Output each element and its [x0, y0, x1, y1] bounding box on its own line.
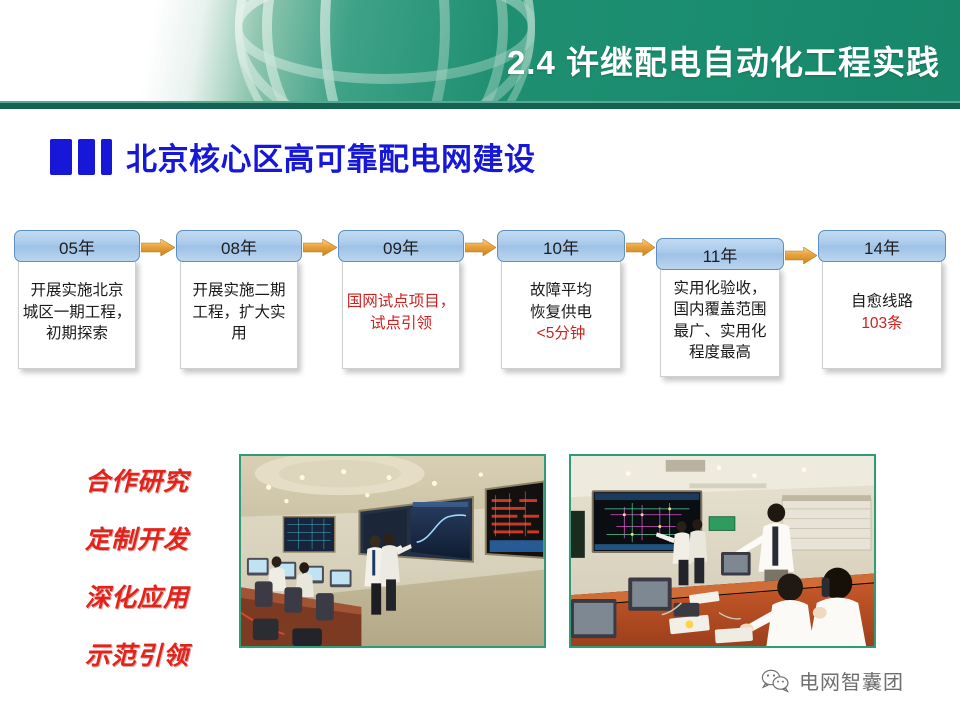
timeline-arrow-icon [785, 247, 817, 264]
timeline-item-text-line: 故障平均 [530, 280, 592, 301]
timeline-item-text-line: 开展实施北京 [30, 280, 123, 301]
watermark: 电网智囊团 [760, 666, 904, 695]
timeline-item-text-line: 国内覆盖范围 [673, 299, 766, 320]
timeline-item-text-line: 工程，扩大实 [192, 302, 285, 323]
header-banner: 2.4 许继配电自动化工程实践 [0, 0, 960, 104]
timeline-arrow-icon [465, 239, 496, 256]
timeline-year-pill[interactable]: 08年 [176, 230, 302, 262]
timeline-year-pill[interactable]: 05年 [14, 230, 140, 262]
timeline-item-text-line: 实用化验收， [673, 278, 766, 299]
timeline-year-label: 14年 [864, 234, 900, 259]
slogan-line: 合作研究 [62, 462, 212, 498]
header-rule [0, 103, 960, 109]
timeline-arrow-icon [626, 239, 655, 256]
page-title: 2.4 许继配电自动化工程实践 [507, 36, 940, 84]
timeline-year-pill[interactable]: 10年 [497, 230, 625, 262]
timeline-item-text-line: 初期探索 [46, 323, 108, 344]
timeline-year-pill[interactable]: 11年 [656, 238, 784, 270]
timeline-item-text-line: 103条 [861, 313, 902, 334]
timeline-arrow-icon [141, 239, 175, 256]
timeline-item-text-line: 用 [231, 323, 247, 344]
timeline-year-label: 10年 [543, 234, 579, 259]
timeline-item-text-line: 自愈线路 [851, 291, 913, 312]
heading-marker-bar-3 [101, 139, 112, 175]
timeline-item-text-line: 开展实施二期 [192, 280, 285, 301]
section-heading: 北京核心区高可靠配电网建设 [50, 134, 536, 179]
timeline-item-text-line: 国网试点项目， [347, 291, 456, 312]
timeline-year-label: 11年 [703, 242, 738, 267]
timeline-year-label: 08年 [221, 234, 257, 259]
timeline: 05年开展实施北京城区一期工程，初期探索08年开展实施二期工程，扩大实用09年国… [0, 230, 960, 390]
timeline-item: 11年实用化验收，国内覆盖范围最广、实用化程度最高 [656, 238, 784, 377]
timeline-item-body: 自愈线路103条 [822, 259, 942, 369]
timeline-item-body: 国网试点项目，试点引领 [342, 259, 460, 369]
slogan-line: 定制开发 [62, 520, 212, 556]
timeline-item-text-line: 城区一期工程， [23, 302, 132, 323]
timeline-item: 05年开展实施北京城区一期工程，初期探索 [14, 230, 140, 369]
timeline-year-pill[interactable]: 14年 [818, 230, 946, 262]
watermark-label: 电网智囊团 [799, 666, 904, 695]
timeline-item-body: 实用化验收，国内覆盖范围最广、实用化程度最高 [660, 267, 780, 377]
slogan-line: 深化应用 [62, 578, 212, 614]
section-heading-label: 北京核心区高可靠配电网建设 [126, 134, 536, 179]
timeline-item-text-line: 最广、实用化 [673, 321, 766, 342]
slogan-block: 合作研究定制开发深化应用示范引领 [62, 462, 212, 694]
slogan-line: 示范引领 [62, 636, 212, 672]
timeline-item: 14年自愈线路103条 [818, 230, 946, 369]
timeline-item-body: 开展实施北京城区一期工程，初期探索 [18, 259, 136, 369]
timeline-year-label: 09年 [383, 234, 419, 259]
timeline-item-text-line: 程度最高 [689, 342, 751, 363]
timeline-item-text-line: 恢复供电 [530, 302, 592, 323]
timeline-arrow-icon [303, 239, 337, 256]
timeline-item-text-line: <5分钟 [537, 323, 586, 344]
wechat-icon [760, 668, 790, 694]
timeline-item: 10年故障平均恢复供电<5分钟 [497, 230, 625, 369]
timeline-year-pill[interactable]: 09年 [338, 230, 464, 262]
heading-marker-bar-2 [78, 139, 95, 175]
timeline-item: 08年开展实施二期工程，扩大实用 [176, 230, 302, 369]
timeline-item: 09年国网试点项目，试点引领 [338, 230, 464, 369]
timeline-year-label: 05年 [59, 234, 95, 259]
heading-marker-bar-1 [50, 139, 72, 175]
dispatch-room-photo [569, 454, 876, 648]
timeline-item-text-line: 试点引领 [370, 313, 432, 334]
timeline-item-body: 故障平均恢复供电<5分钟 [501, 259, 621, 369]
control-room-photo [239, 454, 546, 648]
timeline-item-body: 开展实施二期工程，扩大实用 [180, 259, 298, 369]
